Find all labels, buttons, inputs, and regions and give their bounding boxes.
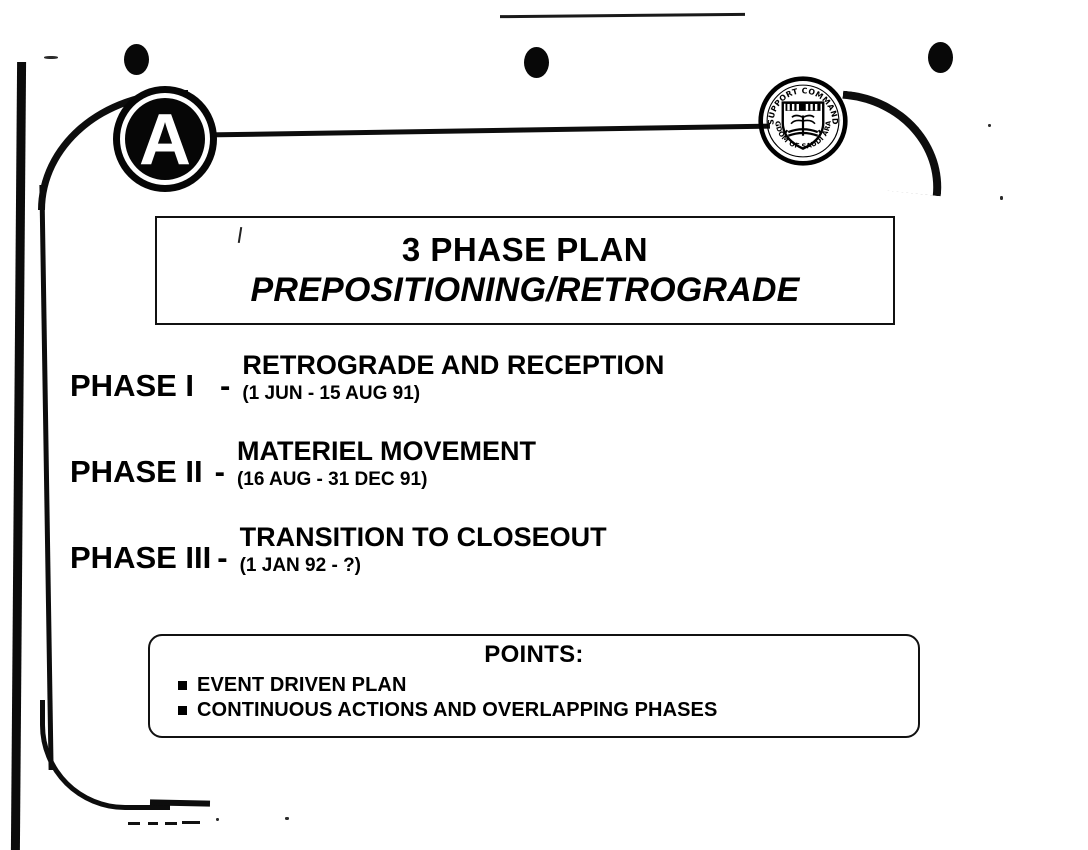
phase-label: PHASE II: [70, 438, 203, 490]
list-item: EVENT DRIVEN PLAN: [178, 674, 918, 697]
phase-dash: -: [211, 524, 239, 576]
scan-top-rule: [500, 13, 745, 18]
circled-letter-a-icon: A: [113, 86, 217, 192]
points-box: POINTS: EVENT DRIVEN PLAN CONTINUOUS ACT…: [148, 634, 920, 738]
kingdom-of-saudi-arabia-seal-icon: SUPPORT COMMAND KINGDOM OF SAUDI ARABIA: [757, 74, 849, 168]
phase-row: PHASE I - RETROGRADE AND RECEPTION (1 JU…: [70, 352, 950, 404]
scan-speck: [44, 56, 58, 59]
points-list: EVENT DRIVEN PLAN CONTINUOUS ACTIONS AND…: [150, 674, 918, 722]
phase-dates: (1 JAN 92 - ?): [240, 555, 607, 577]
square-bullet-icon: [178, 706, 187, 715]
phase-label: PHASE I: [70, 352, 194, 404]
scan-bottom-dash: [148, 822, 158, 825]
square-bullet-icon: [178, 681, 187, 690]
phase-title: TRANSITION TO CLOSEOUT: [240, 524, 607, 552]
emblem-letter: A: [139, 104, 191, 176]
binder-hole: [124, 44, 149, 75]
phase-label: PHASE III: [70, 524, 211, 576]
scan-speck: [285, 817, 289, 820]
phase-dates: (16 AUG - 31 DEC 91): [237, 469, 536, 491]
scan-tick-mark: [238, 227, 242, 243]
frame-bottom-tail: [150, 799, 210, 806]
frame-horizontal-rule: [210, 124, 770, 138]
phase-row: PHASE II - MATERIEL MOVEMENT (16 AUG - 3…: [70, 438, 950, 490]
phase-dash: -: [203, 438, 237, 490]
phase-title: MATERIEL MOVEMENT: [237, 438, 536, 466]
frame-arc-right: [833, 91, 950, 197]
phase-row: PHASE III - TRANSITION TO CLOSEOUT (1 JA…: [70, 524, 950, 576]
binder-hole: [524, 47, 549, 78]
list-item-label: EVENT DRIVEN PLAN: [197, 674, 407, 697]
phase-body: TRANSITION TO CLOSEOUT (1 JAN 92 - ?): [240, 524, 607, 576]
slide-title-box: 3 PHASE PLAN PREPOSITIONING/RETROGRADE: [155, 216, 895, 325]
scan-bottom-dash: [165, 822, 177, 825]
phase-title: RETROGRADE AND RECEPTION: [242, 352, 664, 380]
slide-title-line-1: 3 PHASE PLAN: [402, 231, 648, 269]
slide-title-line-2: PREPOSITIONING/RETROGRADE: [250, 271, 799, 310]
phase-body: MATERIEL MOVEMENT (16 AUG - 31 DEC 91): [237, 438, 536, 490]
scan-speck: [1000, 196, 1003, 200]
phase-dash: -: [194, 352, 242, 404]
frame-left-edge: [39, 185, 53, 770]
slide-canvas: A SUPPORT COMMAND KINGDOM OF SAUDI ARABI…: [0, 0, 1088, 850]
list-item: CONTINUOUS ACTIONS AND OVERLAPPING PHASE…: [178, 699, 918, 722]
scan-edge-bar: [11, 62, 26, 850]
scan-bottom-dash: [182, 821, 200, 824]
phase-body: RETROGRADE AND RECEPTION (1 JUN - 15 AUG…: [242, 352, 664, 404]
scan-speck: [216, 818, 219, 821]
points-heading: POINTS:: [150, 641, 918, 669]
binder-hole: [928, 42, 953, 73]
scan-bottom-dash: [128, 822, 140, 825]
phase-dates: (1 JUN - 15 AUG 91): [242, 383, 664, 405]
list-item-label: CONTINUOUS ACTIONS AND OVERLAPPING PHASE…: [197, 699, 717, 722]
scan-speck: [988, 124, 991, 127]
